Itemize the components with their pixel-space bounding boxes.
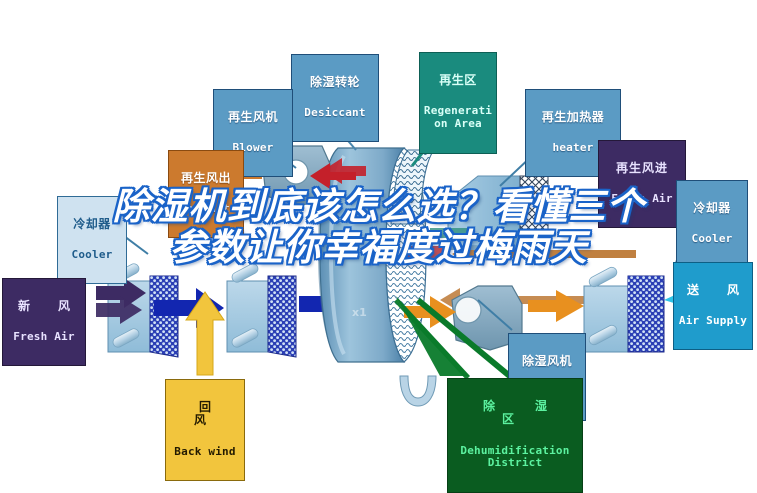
- label-dehumidification-blower-cn: 除湿风机: [511, 355, 583, 368]
- label-cooler-right: 冷却器 Cooler: [676, 180, 748, 268]
- label-cooler-left: 冷却器 Cooler: [57, 196, 127, 284]
- label-dehumidification-district: 除 湿 区 Dehumidification District: [447, 378, 583, 493]
- label-regeneration-fresh-air-in: 再生风进 Fresh Air: [598, 140, 686, 228]
- label-regeneration-blower-cn: 再生风机: [216, 111, 290, 124]
- label-regeneration-fresh-air-in-cn: 再生风进: [601, 162, 683, 175]
- label-regeneration-exhaust-cn: 再生风出: [171, 172, 241, 185]
- regeneration-heater-block: [448, 176, 548, 250]
- label-cooler-left-cn: 冷却器: [60, 218, 124, 231]
- rotor-foot: [400, 376, 436, 406]
- label-dehumidification-district-cn: 除 湿 区: [450, 400, 580, 427]
- label-fresh-air-in-cn: 新 风: [5, 300, 83, 313]
- label-cooler-right-en: Cooler: [679, 233, 745, 245]
- label-fresh-air-in-en: Fresh Air: [5, 331, 83, 343]
- svg-text:x1: x1: [352, 306, 367, 319]
- label-regeneration-area-en: Regenerati on Area: [422, 105, 494, 130]
- label-air-supply: 送 风 Air Supply: [673, 262, 753, 350]
- label-air-supply-cn: 送 风: [676, 284, 750, 297]
- label-regeneration-exhaust-en: Exhaust: [171, 203, 241, 215]
- label-air-supply-en: Air Supply: [676, 315, 750, 327]
- label-back-wind-cn: 回 风: [168, 401, 242, 428]
- label-desiccant-rotor-en: Desiccant: [294, 107, 376, 119]
- dry-air-arrow-2: [528, 290, 584, 322]
- label-cooler-left-en: Cooler: [60, 249, 124, 261]
- label-dehumidification-district-en: Dehumidification District: [450, 445, 580, 470]
- label-regeneration-exhaust: 再生风出 Exhaust: [168, 150, 244, 238]
- label-desiccant-rotor-cn: 除湿转轮: [294, 76, 376, 89]
- process-duct-panel: [227, 262, 296, 357]
- label-regeneration-area: 再生区 Regenerati on Area: [419, 52, 497, 154]
- label-regeneration-area-cn: 再生区: [422, 74, 494, 87]
- label-cooler-right-cn: 冷却器: [679, 202, 745, 215]
- supply-duct-panel: [584, 266, 664, 352]
- label-regeneration-fresh-air-in-en: Fresh Air: [601, 193, 683, 205]
- label-back-wind: 回 风 Back wind: [165, 379, 245, 481]
- label-regeneration-heater-cn: 再生加热器: [528, 111, 618, 124]
- label-back-wind-en: Back wind: [168, 446, 242, 458]
- label-fresh-air-in: 新 风 Fresh Air: [2, 278, 86, 366]
- label-desiccant-rotor: 除湿转轮 Desiccant: [291, 54, 379, 142]
- diagram-canvas: x1: [0, 0, 757, 488]
